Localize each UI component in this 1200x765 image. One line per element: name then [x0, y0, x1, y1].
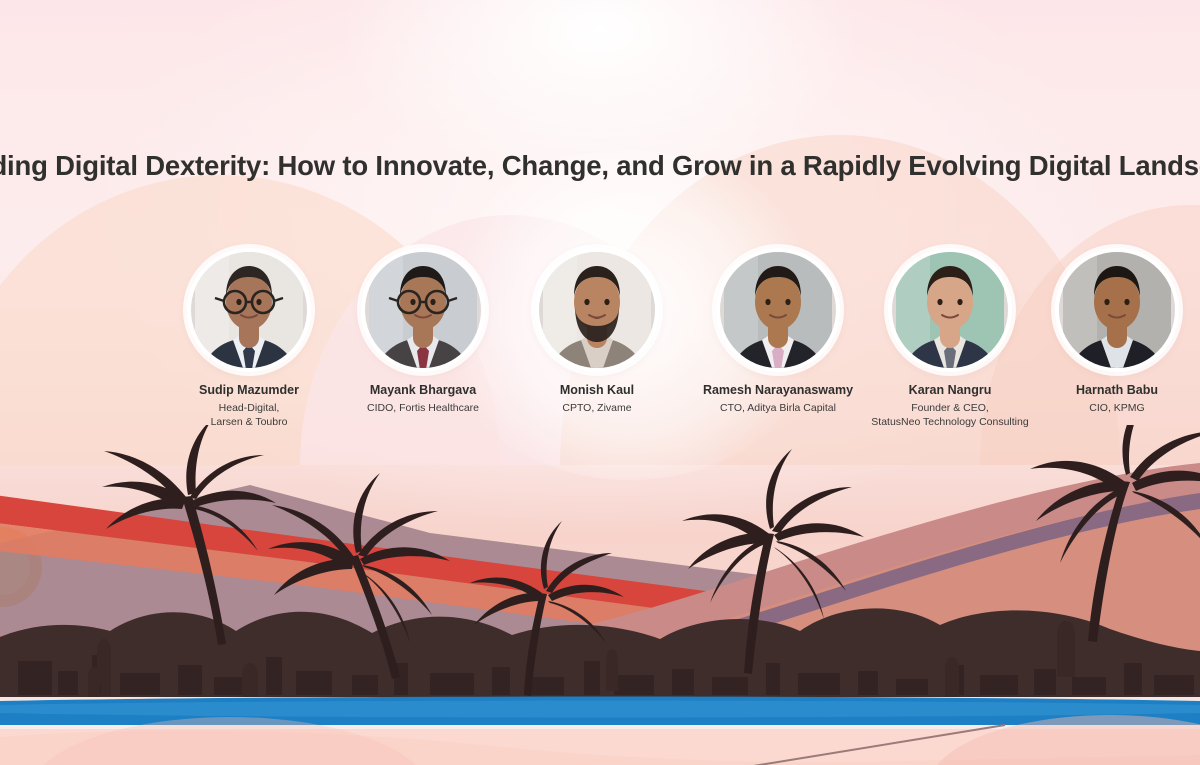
speaker-name: Ramesh Narayanaswamy: [678, 383, 878, 399]
avatar-photo: [191, 252, 307, 368]
avatar: [187, 248, 311, 372]
speaker-card-sudip-mazumder: Sudip Mazumder Head-Digital,Larsen & Tou…: [149, 248, 349, 429]
slide-canvas: Building Digital Dexterity: How to Innov…: [0, 0, 1200, 765]
avatar: [361, 248, 485, 372]
speaker-name: Monish Kaul: [497, 383, 697, 399]
speaker-list: Sudip Mazumder Head-Digital,Larsen & Tou…: [0, 248, 1200, 438]
avatar: [716, 248, 840, 372]
avatar: [888, 248, 1012, 372]
speaker-role: CTO, Aditya Birla Capital: [678, 401, 878, 415]
speaker-name: Sudip Mazumder: [149, 383, 349, 399]
avatar-photo: [365, 252, 481, 368]
avatar: [1055, 248, 1179, 372]
speaker-name: Mayank Bhargava: [323, 383, 523, 399]
speaker-name: Harnath Babu: [1017, 383, 1200, 399]
avatar-photo: [539, 252, 655, 368]
avatar: [535, 248, 659, 372]
page-title: Building Digital Dexterity: How to Innov…: [0, 150, 1200, 182]
beach-landscape-illustration: [0, 425, 1200, 765]
speaker-card-ramesh-narayanaswamy: Ramesh Narayanaswamy CTO, Aditya Birla C…: [678, 248, 878, 415]
avatar-photo: [720, 252, 836, 368]
speaker-card-harnath-babu: Harnath Babu CIO, KPMG: [1017, 248, 1200, 415]
speaker-role: CPTO, Zivame: [497, 401, 697, 415]
speaker-card-mayank-bhargava: Mayank Bhargava CIDO, Fortis Healthcare: [323, 248, 523, 415]
speaker-card-monish-kaul: Monish Kaul CPTO, Zivame: [497, 248, 697, 415]
avatar-photo: [892, 252, 1008, 368]
avatar-photo: [1059, 252, 1175, 368]
speaker-role: CIDO, Fortis Healthcare: [323, 401, 523, 415]
speaker-role: CIO, KPMG: [1017, 401, 1200, 415]
